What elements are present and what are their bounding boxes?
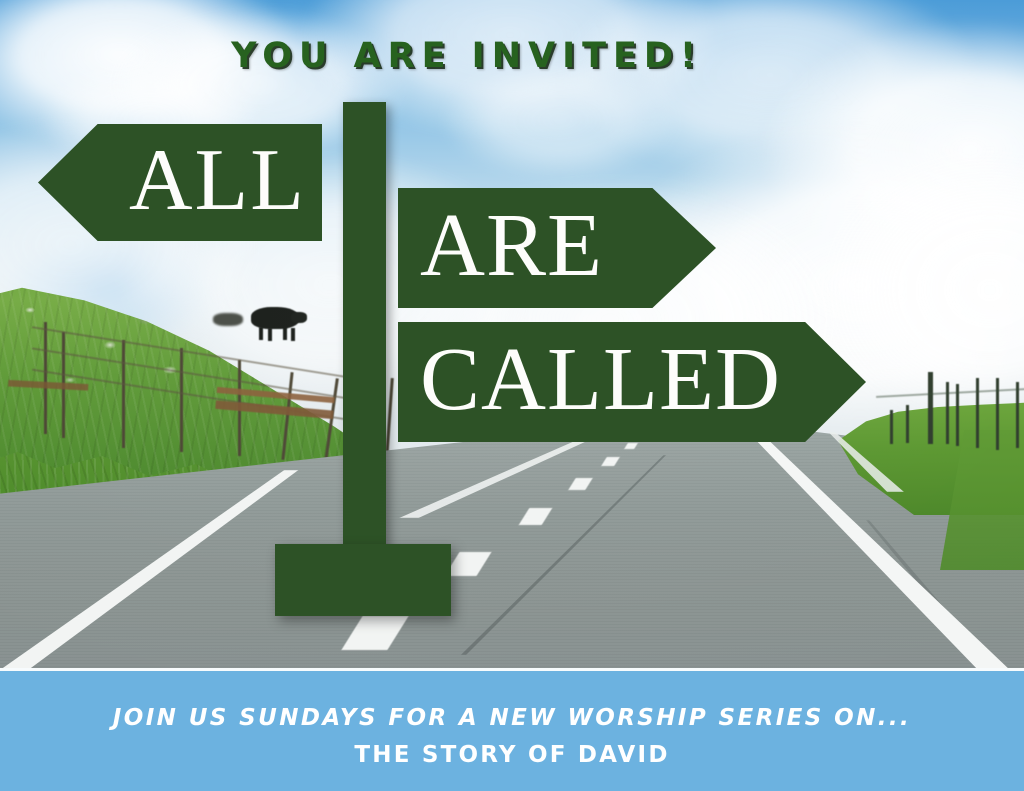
fence-post: [890, 410, 893, 444]
fence-post: [928, 372, 933, 444]
sign-called: CALLED: [398, 322, 866, 442]
cow-distant: [213, 313, 243, 326]
sign-are: ARE: [398, 188, 716, 308]
fence-post: [1016, 382, 1019, 448]
cow-leg: [259, 327, 263, 340]
sign-all: ALL: [38, 124, 322, 241]
signpost-base: [275, 544, 451, 616]
page-title: YOU ARE INVITED!: [0, 36, 1024, 76]
sign-all-label: ALL: [129, 137, 322, 225]
cow-leg: [291, 328, 295, 341]
cloud: [440, 60, 680, 180]
sign-called-label: CALLED: [398, 335, 781, 425]
bottom-banner: JOIN US SUNDAYS FOR A NEW WORSHIP SERIES…: [0, 668, 1024, 791]
banner-line-1: JOIN US SUNDAYS FOR A NEW WORSHIP SERIES…: [0, 705, 1024, 731]
banner-line-2: THE STORY OF DAVID: [0, 742, 1024, 768]
fence-post: [976, 378, 979, 448]
signpost-pole: [343, 102, 386, 558]
fence-post: [122, 340, 125, 448]
sign-are-label: ARE: [398, 201, 603, 291]
cow-head: [291, 312, 307, 323]
cow-leg: [268, 328, 272, 341]
fence-post: [906, 405, 909, 443]
fence-post: [44, 322, 47, 434]
fence-post: [180, 348, 183, 452]
cow-leg: [283, 327, 287, 340]
poster-canvas: YOU ARE INVITED! ALL ARE CALLED JOIN US …: [0, 0, 1024, 791]
